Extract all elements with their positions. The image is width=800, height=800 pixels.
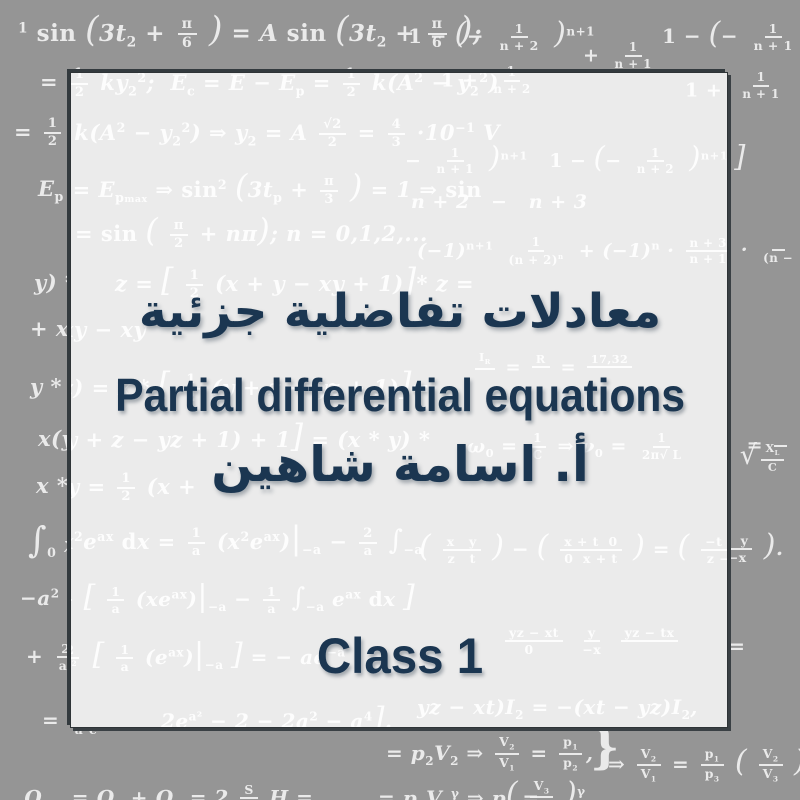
title-block: معادلات تفاضلية جزئية Partial differenti…: [0, 0, 800, 800]
instructor-name-arabic: أ. اسامة شاهين: [0, 438, 800, 492]
course-title-arabic: معادلات تفاضلية جزئية: [0, 286, 800, 338]
class-number-label: Class 1: [20, 627, 780, 685]
course-title-english: Partial differential equations: [28, 370, 772, 421]
poster-canvas: 1 sin (3t2 + π6 ) = A sin (3t2 + π6 ); 1…: [0, 0, 800, 800]
